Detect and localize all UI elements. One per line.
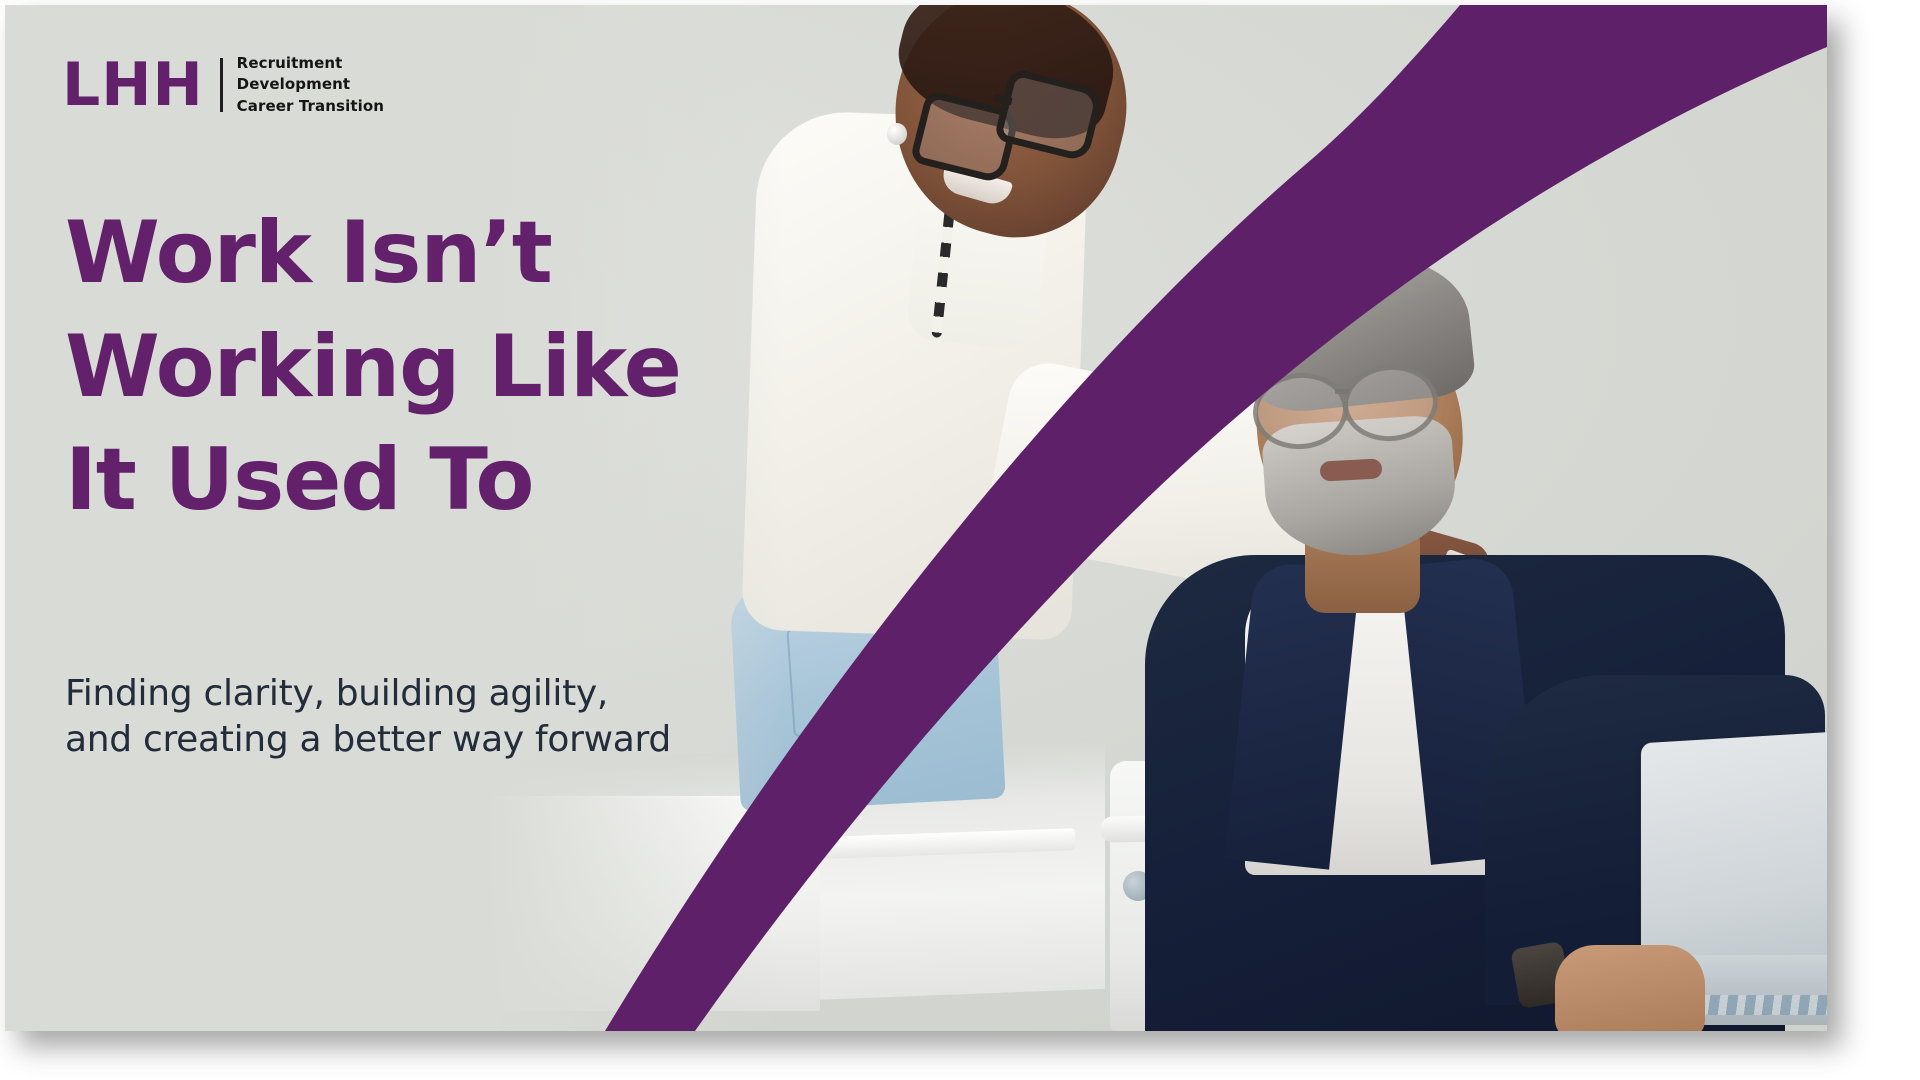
slide-title: Work Isn’t Working Like It Used To — [65, 197, 745, 538]
slide-subtitle-line-2: and creating a better way forward — [65, 717, 765, 763]
man-typing-hand — [1555, 945, 1705, 1031]
logo-divider — [220, 58, 223, 112]
logo-tagline-line-1: Recruitment — [237, 53, 384, 74]
slide-title-line-1: Work Isn’t — [65, 197, 745, 311]
lhh-logo[interactable]: LHH Recruitment Development Career Trans… — [62, 53, 384, 117]
woman-earring — [887, 123, 907, 145]
slide-subtitle: Finding clarity, building agility, and c… — [65, 671, 765, 763]
man-lips — [1320, 458, 1383, 481]
slide-title-line-3: It Used To — [65, 424, 745, 538]
logo-tagline-line-2: Development — [237, 74, 384, 95]
slide-title-line-2: Working Like — [65, 311, 745, 425]
logo-tagline-line-3: Career Transition — [237, 96, 384, 117]
logo-tagline: Recruitment Development Career Transitio… — [237, 53, 384, 117]
logo-wordmark: LHH — [62, 55, 204, 115]
woman-jeans-pocket — [786, 622, 892, 738]
presentation-slide: LHH Recruitment Development Career Trans… — [5, 5, 1827, 1031]
man-glasses-bridge — [1335, 389, 1349, 394]
photo-figure-seated-man — [1185, 255, 1827, 1031]
slide-subtitle-line-1: Finding clarity, building agility, — [65, 671, 765, 717]
